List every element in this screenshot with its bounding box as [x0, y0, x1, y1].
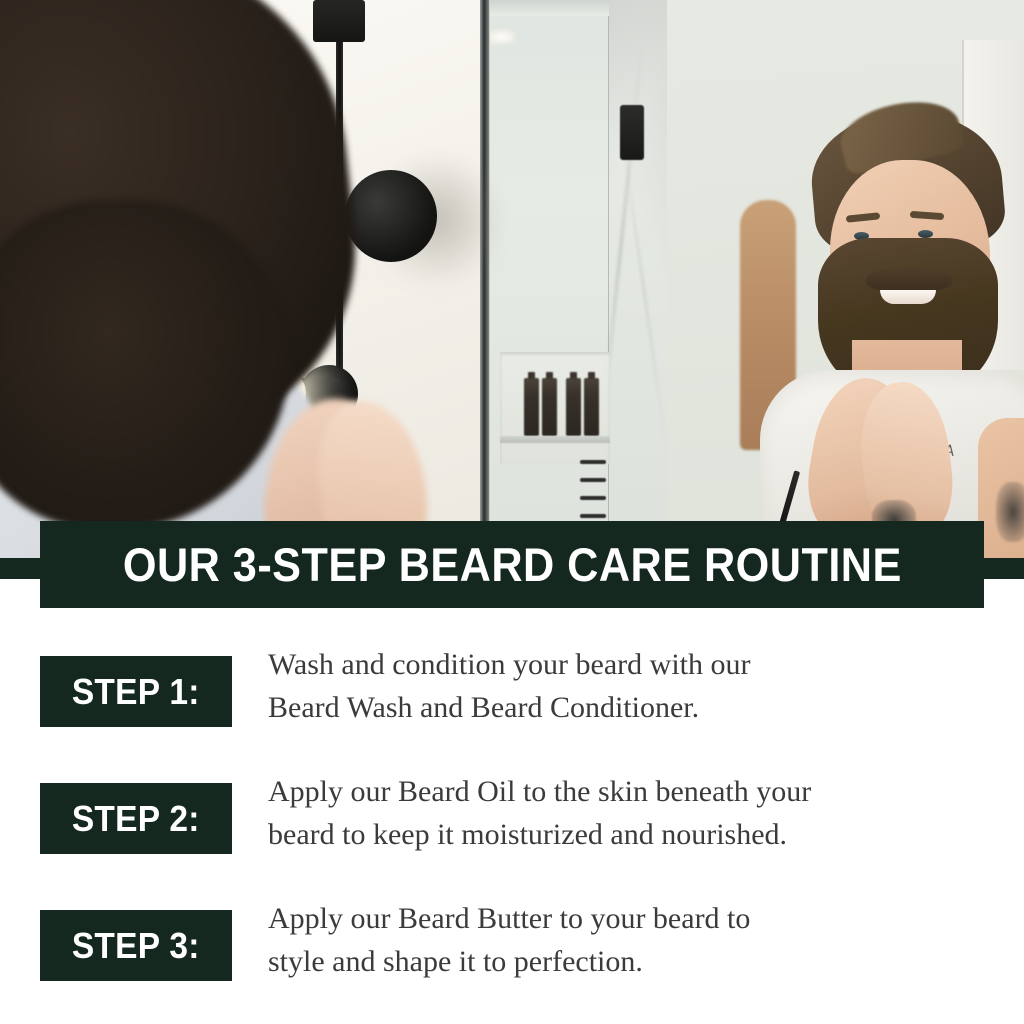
step-description-line: Beard Wash and Beard Conditioner. — [268, 687, 980, 730]
banner: OUR 3-STEP BEARD CARE ROUTINE — [40, 521, 984, 608]
step-description-line: beard to keep it moisturized and nourish… — [268, 814, 980, 857]
step-badge-label: STEP 1: — [72, 674, 200, 710]
arm-tattoo — [996, 482, 1024, 542]
product-bottle — [584, 378, 599, 436]
mirror-frame-edge — [480, 0, 489, 560]
step-description-line: style and shape it to perfection. — [268, 941, 980, 984]
marble-shower-wall — [609, 0, 667, 560]
step-row: STEP 2: Apply our Beard Oil to the skin … — [0, 767, 1024, 894]
step-description-line: Apply our Beard Butter to your beard to — [268, 898, 980, 941]
step-badge-1: STEP 1: — [40, 656, 232, 727]
sconce-top-socket — [313, 0, 365, 42]
niche-shelf — [500, 436, 610, 443]
step-row: STEP 3: Apply our Beard Butter to your b… — [0, 894, 1024, 1021]
step-description-line: Apply our Beard Oil to the skin beneath … — [268, 771, 980, 814]
product-bottle — [542, 378, 557, 436]
reflected-man-smile — [880, 290, 936, 304]
step-description-line: Wash and condition your beard with our — [268, 644, 980, 687]
shower-glass-top-edge — [489, 0, 609, 16]
steps-list: STEP 1: Wash and condition your beard wi… — [0, 640, 1024, 1021]
banner-title: OUR 3-STEP BEARD CARE ROUTINE — [123, 541, 902, 588]
wall-hook — [620, 105, 644, 160]
step-description-2: Apply our Beard Oil to the skin beneath … — [268, 771, 980, 856]
step-badge-3: STEP 3: — [40, 910, 232, 981]
step-badge-2: STEP 2: — [40, 783, 232, 854]
shower-fixture — [580, 460, 606, 518]
product-bottle — [566, 378, 581, 436]
reflected-man-mustache — [866, 268, 952, 292]
step-row: STEP 1: Wash and condition your beard wi… — [0, 640, 1024, 767]
beard-care-routine-graphic: Actions OUR 3-STEP BEARD CARE ROUTINE ST… — [0, 0, 1024, 1024]
step-description-3: Apply our Beard Butter to your beard to … — [268, 898, 980, 983]
step-badge-label: STEP 3: — [72, 928, 200, 964]
product-bottle — [524, 378, 539, 436]
reflected-man-eye — [918, 230, 933, 238]
step-description-1: Wash and condition your beard with our B… — [268, 644, 980, 729]
sconce-backplate — [345, 170, 437, 262]
ceiling-light-reflection — [487, 30, 515, 44]
step-badge-label: STEP 2: — [72, 801, 200, 837]
hero-photo: Actions — [0, 0, 1024, 560]
